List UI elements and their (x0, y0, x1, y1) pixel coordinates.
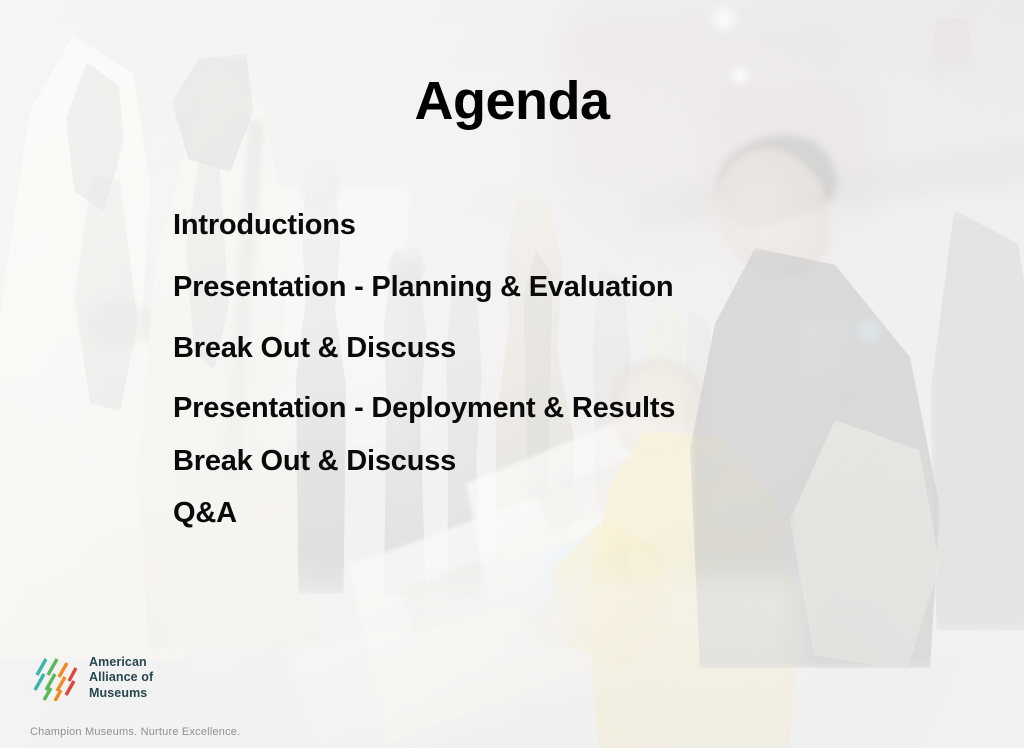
logo-line-3: Museums (89, 686, 153, 701)
presentation-slide: Agenda Introductions Presentation - Plan… (0, 0, 1024, 748)
logo-tagline: Champion Museums. Nurture Excellence. (30, 726, 240, 738)
agenda-item-introductions: Introductions (173, 210, 873, 241)
agenda-item-presentation-deployment-results: Presentation - Deployment & Results (173, 393, 873, 424)
logo-line-1: American (89, 655, 153, 670)
agenda-list: Introductions Presentation - Planning & … (173, 210, 873, 529)
slide-content: Agenda Introductions Presentation - Plan… (0, 0, 1024, 748)
logo-line-2: Alliance of (89, 670, 153, 685)
agenda-item-presentation-planning-evaluation: Presentation - Planning & Evaluation (173, 272, 873, 303)
organization-logo: American Alliance of Museums (33, 655, 153, 701)
logo-wordmark: American Alliance of Museums (89, 655, 153, 701)
aam-logo-mark-icon (33, 655, 79, 701)
agenda-item-break-out-discuss-1: Break Out & Discuss (173, 333, 873, 364)
agenda-item-qa: Q&A (173, 498, 873, 529)
agenda-item-break-out-discuss-2: Break Out & Discuss (173, 446, 873, 477)
page-title: Agenda (0, 70, 1024, 132)
